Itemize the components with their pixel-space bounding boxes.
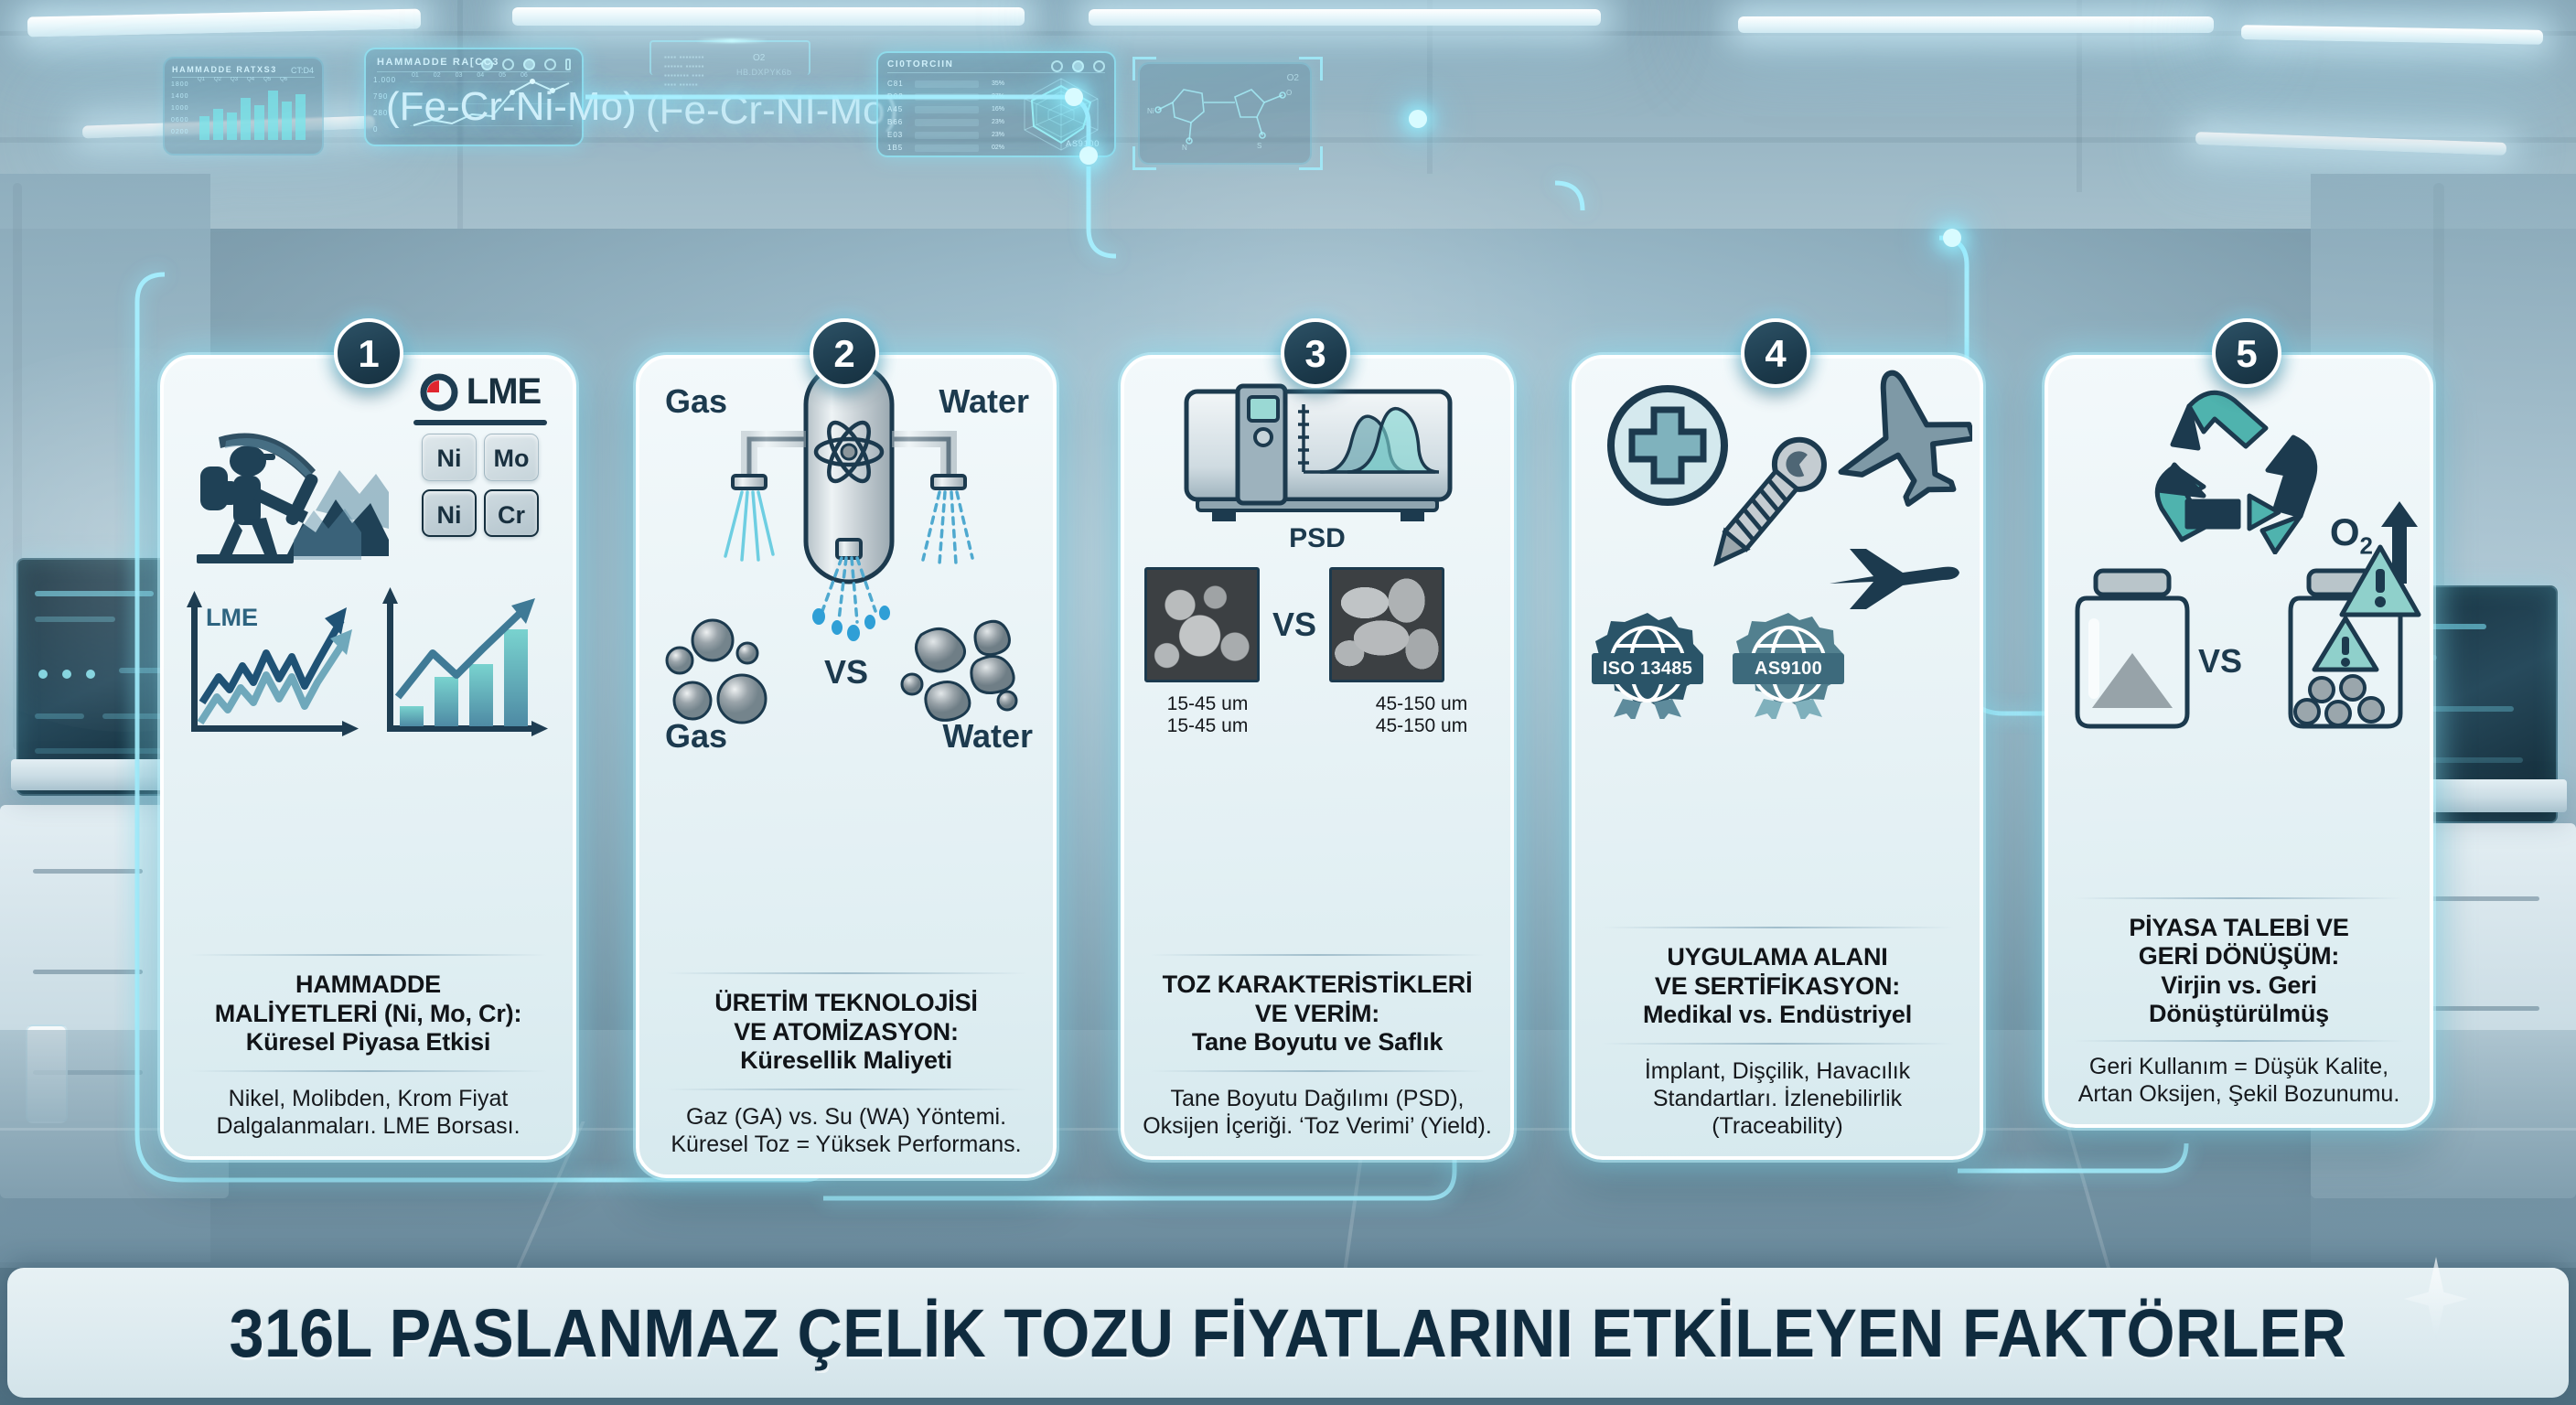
label-gas-bottom: Gas [665,717,727,756]
card-5-visual: O2 VS [2048,359,2430,752]
metal-chip-ni-2: Ni [422,489,477,537]
certification-badges: ISO 13485 AS9100 [1592,611,1844,719]
card-1-description: Nikel, Molibden, Krom Fiyat Dalgalanmala… [180,1085,556,1140]
circle-icon [544,59,556,70]
comparison-vs-label: VS [1272,606,1316,644]
gear-icon [1093,60,1105,72]
hud-legend: CT:D4 [291,66,314,75]
svg-text:N: N [1182,144,1187,152]
card-market-demand-recycling[interactable]: O2 VS [2045,355,2433,1128]
card-1-text: HAMMADDE MALİYETLERİ (Ni, Mo, Cr): Küres… [164,954,573,1156]
ceiling-light [512,7,1025,26]
hud-bar-chart [198,81,318,142]
card-3-title: TOZ KARAKTERİSTİKLERİ VE VERİM: Tane Boy… [1141,971,1494,1057]
miner-icon [178,401,389,574]
bottom-banner: 316L PASLANMAZ ÇELİK TOZU FİYATLARINI ET… [7,1268,2569,1398]
label-water-bottom: Water [942,717,1033,756]
lme-brand-label: LME [467,371,541,413]
card-4-title: UYGULAMA ALANI VE SERTİFİKASYON: Medikal… [1592,943,1963,1030]
cert-badge-iso13485: ISO 13485 [1592,611,1703,719]
card-2-visual: Gas Water [639,359,1053,761]
molecule-diagram: NiNOS [1140,64,1310,165]
card-1-title: HAMMADDE MALİYETLERİ (Ni, Mo, Cr): Küres… [180,971,556,1057]
comparison-vs-label: VS [2198,642,2242,681]
infographic-title: 316L PASLANMAZ ÇELİK TOZU FİYATLARINI ET… [230,1294,2347,1372]
target-icon [523,59,535,70]
card-5-text: PİYASA TALEBİ VE GERİ DÖNÜŞÜM: Virjin vs… [2048,897,2430,1124]
infographic-stage: HAMMADDE RATXS3 CT:D4 1800 1400 1000 060… [0,0,2576,1405]
card-5-description: Geri Kullanım = Düşük Kalite, Artan Oksi… [2065,1053,2413,1108]
card-4-description: İmplant, Dişçilik, Havacılık Standartlar… [1592,1057,1963,1140]
hud-formula-label: O2 [753,53,765,63]
lme-logo-icon [420,373,458,412]
dot-icon [1072,60,1084,72]
connector-node [1943,229,1961,247]
hud-microtext: ▪▪▪▪ ▪▪▪▪▪▪▪▪▪▪▪▪▪▪ ▪▪▪▪▪▪▪▪▪▪▪▪▪▪ ▪▪▪▪▪… [664,53,728,90]
alloy-formula-left: (Fe-Cr-Ni-Mo) [386,84,637,130]
svg-text:Ni: Ni [1147,107,1154,115]
metal-chip-mo: Mo [484,434,539,481]
sem-image-coarse [1329,567,1444,682]
lme-module: LME Ni Mo Ni Cr [408,371,553,537]
card-application-certification[interactable]: ISO 13485 AS9100 [1572,355,1983,1160]
connector-node [1079,146,1098,165]
step-badge-4: 4 [1741,318,1810,388]
connector-node [1065,88,1083,106]
card-5-title: PİYASA TALEBİ VE GERİ DÖNÜŞÜM: Virjin vs… [2065,914,2413,1029]
sem-comparison: VS [1144,567,1444,682]
alloy-formula-center: (Fe-Cr-NI-Mo) [646,88,898,134]
step-badge-5: 5 [2212,318,2281,388]
refresh-icon [502,59,514,70]
cert-label-as9100: AS9100 [1733,653,1844,684]
hud-radar-label: AS9100 [1066,139,1100,148]
cert-label-iso: ISO 13485 [1592,653,1703,684]
card-2-title: ÜRETİM TEKNOLOJİSİ VE ATOMİZASYON: Küres… [656,989,1036,1076]
lme-chart-label: LME [206,604,258,631]
menu-icon [565,59,571,70]
eye-icon [1051,60,1063,72]
hud-panel-raw-material-rates: HAMMADDE RATXS3 CT:D4 1800 1400 1000 060… [163,57,324,156]
hud-formula-note: HB.DXPYK6b [736,68,792,77]
card-4-visual: ISO 13485 AS9100 [1575,359,1980,752]
price-charts: LME [171,578,555,761]
card-2-text: ÜRETİM TEKNOLOJİSİ VE ATOMİZASYON: Küres… [639,972,1053,1174]
virgin-powder-jar-icon [2068,562,2196,735]
connector-node [1409,110,1427,128]
airplane-silhouette-icon [1820,523,1967,624]
ceiling-beam [1427,0,1433,174]
card-2-description: Gaz (GA) vs. Su (WA) Yöntemi. Küresel To… [656,1103,1036,1158]
metal-chip-cr: Cr [484,489,539,537]
record-icon [481,59,493,70]
card-raw-material-costs[interactable]: LME Ni Mo Ni Cr [160,355,576,1160]
hud-panel-composition: CI0TORCIIN C8135% D0227% A4516% B6623% E… [876,51,1116,157]
sparkle-icon [2404,1257,2468,1341]
card-3-description: Tane Boyutu Dağılımı (PSD), Oksijen İçer… [1141,1085,1494,1140]
step-badge-2: 2 [810,318,879,388]
hud-bar-list: C8135% D0227% A4516% B6623% E0323% 1B502… [887,75,1004,157]
psd-label: PSD [1124,523,1510,554]
hud-panel-molecule: NiNOS O2 [1138,62,1312,165]
recycle-icon [2132,371,2334,554]
card-4-text: UYGULAMA ALANI VE SERTİFİKASYON: Medikal… [1575,927,1980,1156]
sem-image-fine [1144,567,1260,682]
card-production-technology[interactable]: Gas Water [636,355,1057,1178]
warning-triangle-icon [2336,542,2424,626]
metal-chip-ni: Ni [422,434,477,481]
svg-text:S: S [1257,142,1261,150]
scan-glow [695,38,768,43]
step-badge-3: 3 [1281,318,1350,388]
svg-text:O: O [1286,89,1292,97]
sem-caption-left: 15-45 um 15-45 um [1139,693,1276,736]
card-3-visual: PSD VS 15-45 um 15-45 um 45-150 um 45-15… [1124,359,1510,743]
cert-badge-as9100: AS9100 [1733,611,1844,719]
hud-badge: O2 [1287,73,1299,83]
bone-screw-icon [1687,419,1842,593]
card-1-visual: LME Ni Mo Ni Cr [164,359,573,752]
step-badge-1: 1 [334,318,403,388]
psd-analyzer-icon [1181,377,1455,523]
ceiling-light [1089,9,1601,26]
card-powder-characteristics[interactable]: PSD VS 15-45 um 15-45 um 45-150 um 45-15… [1121,355,1514,1160]
sem-caption-right: 45-150 um 45-150 um [1340,693,1503,736]
comparison-vs-label: VS [639,653,1053,692]
card-3-text: TOZ KARAKTERİSTİKLERİ VE VERİM: Tane Boy… [1124,954,1510,1156]
ceiling-light [1738,16,2214,33]
